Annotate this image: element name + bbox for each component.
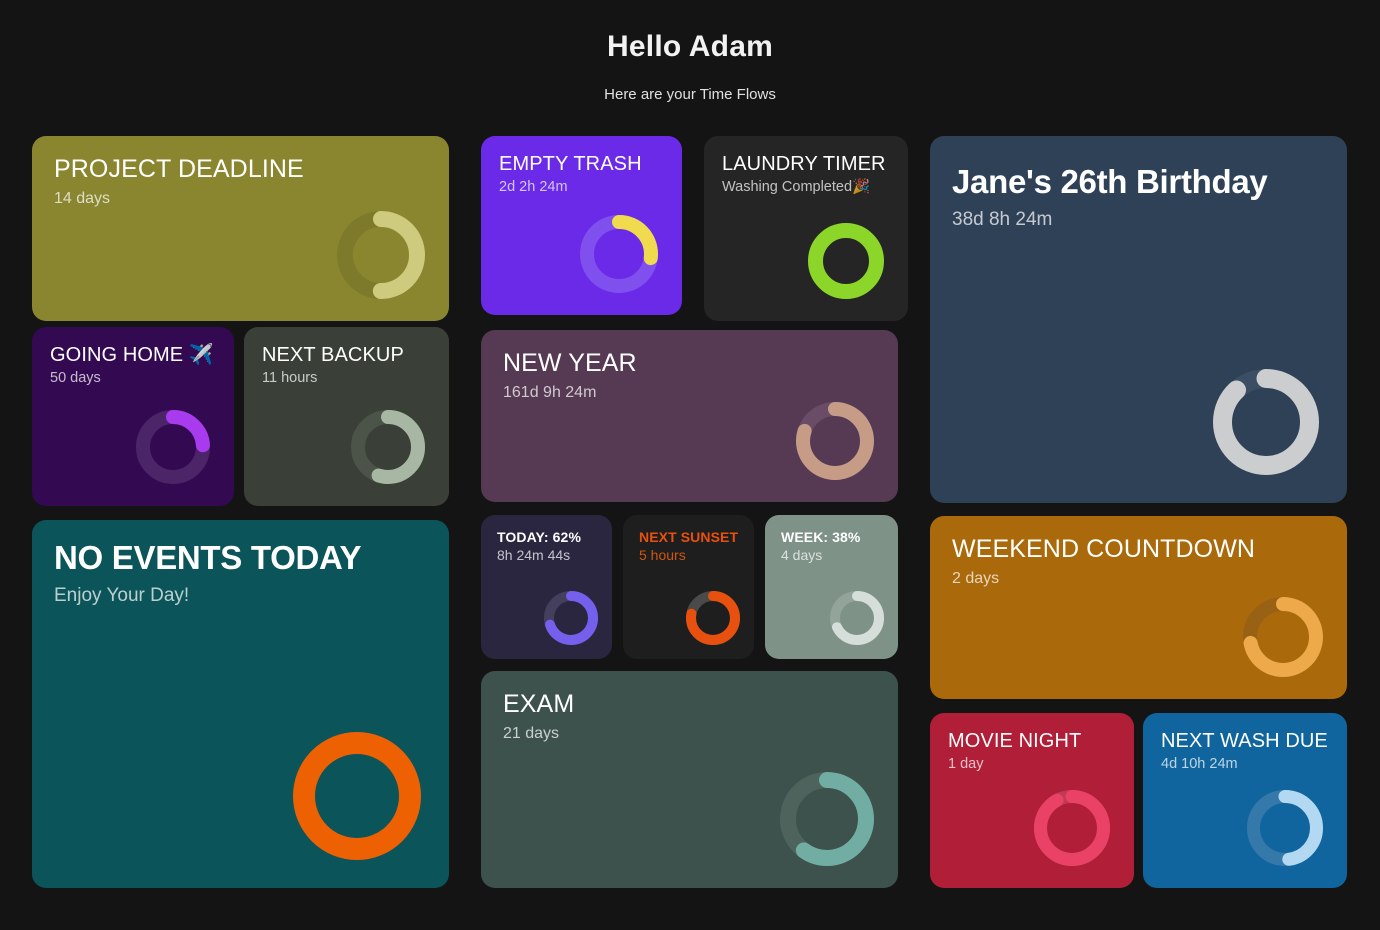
card-no-events-today[interactable]: NO EVENTS TODAY Enjoy Your Day!: [32, 520, 449, 888]
card-week[interactable]: WEEK: 38% 4 days: [765, 515, 898, 659]
progress-ring: [293, 732, 421, 860]
card-subtitle: 14 days: [54, 189, 427, 209]
card-laundry-timer[interactable]: LAUNDRY TIMER Washing Completed🎉: [704, 136, 908, 321]
progress-ring: [1247, 790, 1323, 866]
progress-ring: [544, 591, 598, 645]
card-subtitle: 2 days: [952, 569, 1325, 589]
card-title: NEW YEAR: [503, 350, 876, 378]
card-title: NEXT WASH DUE: [1161, 730, 1329, 752]
grid-column-middle: EMPTY TRASH 2d 2h 24m LAUNDRY TIMER Wash…: [481, 136, 898, 888]
page-subtitle: Here are your Time Flows: [0, 85, 1380, 105]
card-subtitle: 21 days: [503, 724, 876, 744]
card-title: Jane's 26th Birthday: [952, 164, 1325, 200]
grid-row-mid-top: EMPTY TRASH 2d 2h 24m LAUNDRY TIMER Wash…: [481, 136, 898, 321]
progress-ring: [830, 591, 884, 645]
card-subtitle: 11 hours: [262, 369, 431, 387]
card-new-year[interactable]: NEW YEAR 161d 9h 24m: [481, 330, 898, 502]
card-subtitle: 161d 9h 24m: [503, 383, 876, 403]
progress-ring: [1213, 369, 1319, 475]
card-title: EXAM: [503, 691, 876, 719]
card-title: WEEKEND COUNTDOWN: [952, 536, 1325, 564]
card-subtitle: 50 days: [50, 369, 216, 387]
progress-ring: [686, 591, 740, 645]
page-title: Hello Adam: [0, 28, 1380, 66]
card-title: GOING HOME ✈️: [50, 344, 216, 366]
card-today[interactable]: TODAY: 62% 8h 24m 44s: [481, 515, 612, 659]
progress-ring: [1243, 597, 1323, 677]
card-title: NO EVENTS TODAY: [54, 540, 427, 576]
card-next-backup[interactable]: NEXT BACKUP 11 hours: [244, 327, 449, 506]
progress-ring: [808, 223, 884, 299]
card-weekend-countdown[interactable]: WEEKEND COUNTDOWN 2 days: [930, 516, 1347, 699]
grid-column-right: Jane's 26th Birthday 38d 8h 24m WEEKEND …: [930, 136, 1347, 888]
card-title: EMPTY TRASH: [499, 153, 664, 175]
card-movie-night[interactable]: MOVIE NIGHT 1 day: [930, 713, 1134, 888]
card-subtitle: Enjoy Your Day!: [54, 584, 427, 608]
card-title: MOVIE NIGHT: [948, 730, 1116, 752]
card-subtitle: 4 days: [781, 547, 882, 565]
progress-ring: [1034, 790, 1110, 866]
grid-row-left-mid: GOING HOME ✈️ 50 days NEXT BACKUP 11 hou…: [32, 327, 449, 506]
card-subtitle: 2d 2h 24m: [499, 178, 664, 196]
grid-column-left: PROJECT DEADLINE 14 days GOING HOME ✈️ 5…: [32, 136, 449, 888]
card-empty-trash[interactable]: EMPTY TRASH 2d 2h 24m: [481, 136, 682, 315]
card-title: NEXT BACKUP: [262, 344, 431, 366]
card-title: PROJECT DEADLINE: [54, 156, 427, 184]
card-exam[interactable]: EXAM 21 days: [481, 671, 898, 888]
card-subtitle: 5 hours: [639, 547, 738, 565]
grid-row-right-bottom: MOVIE NIGHT 1 day NEXT WASH DUE 4d 10h 2…: [930, 713, 1347, 888]
card-next-wash-due[interactable]: NEXT WASH DUE 4d 10h 24m: [1143, 713, 1347, 888]
card-janes-birthday[interactable]: Jane's 26th Birthday 38d 8h 24m: [930, 136, 1347, 503]
card-title: TODAY: 62%: [497, 530, 596, 545]
card-subtitle: 38d 8h 24m: [952, 208, 1325, 232]
progress-ring: [136, 410, 210, 484]
card-subtitle: Washing Completed🎉: [722, 178, 890, 196]
card-next-sunset[interactable]: NEXT SUNSET 5 hours: [623, 515, 754, 659]
card-title: LAUNDRY TIMER: [722, 153, 890, 175]
card-title: WEEK: 38%: [781, 530, 882, 545]
progress-ring-arc: [1041, 797, 1104, 860]
grid-row-mid-small: TODAY: 62% 8h 24m 44s NEXT SUNSET 5 hour…: [481, 515, 898, 659]
card-subtitle: 8h 24m 44s: [497, 547, 596, 565]
progress-ring: [796, 402, 874, 480]
card-subtitle: 4d 10h 24m: [1161, 755, 1329, 773]
widget-grid: PROJECT DEADLINE 14 days GOING HOME ✈️ 5…: [32, 136, 1348, 888]
card-project-deadline[interactable]: PROJECT DEADLINE 14 days: [32, 136, 449, 321]
progress-ring: [580, 215, 658, 293]
progress-ring: [351, 410, 425, 484]
card-going-home[interactable]: GOING HOME ✈️ 50 days: [32, 327, 234, 506]
progress-ring-arc: [1223, 379, 1310, 466]
app-root: Hello Adam Here are your Time Flows PROJ…: [0, 0, 1380, 930]
progress-ring: [337, 211, 425, 299]
progress-ring-track: [816, 231, 877, 292]
page-header: Hello Adam Here are your Time Flows: [0, 0, 1380, 105]
progress-ring-track: [304, 743, 410, 849]
card-title: NEXT SUNSET: [639, 530, 738, 545]
progress-ring: [780, 772, 874, 866]
card-subtitle: 1 day: [948, 755, 1116, 773]
